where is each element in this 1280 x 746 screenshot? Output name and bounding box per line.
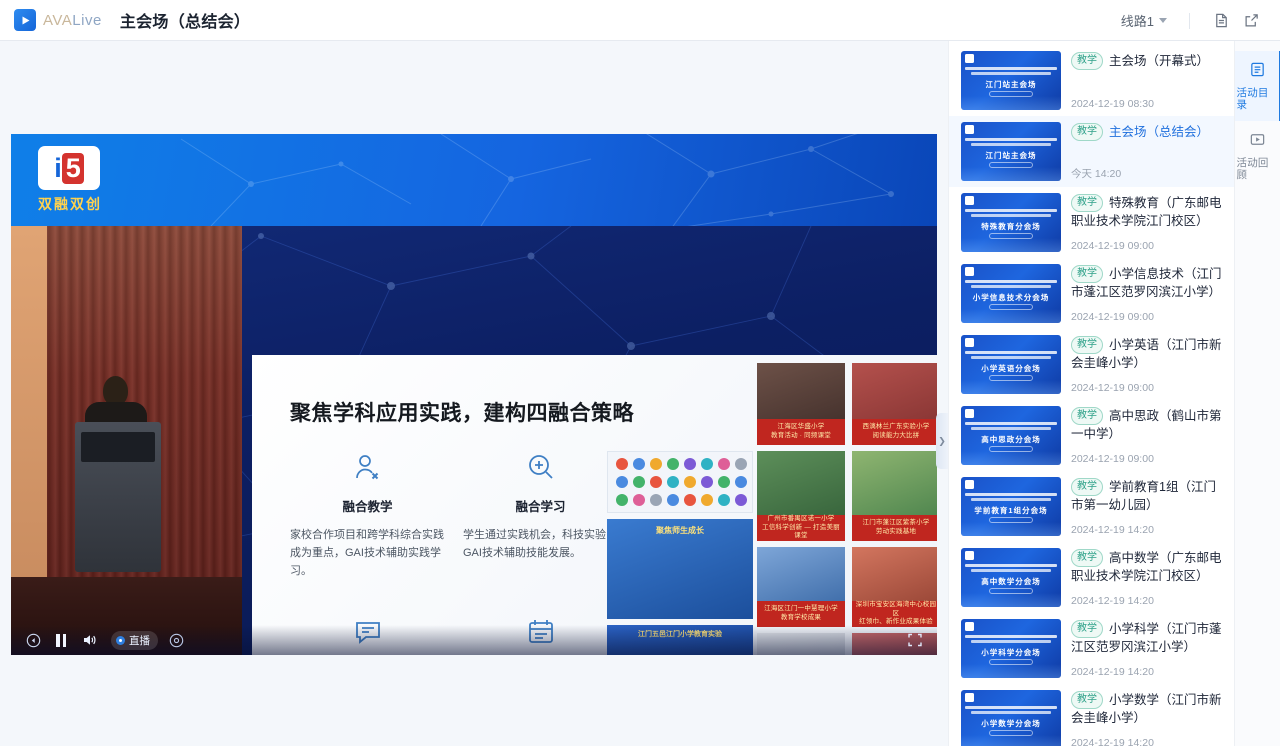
activity-list-item[interactable]: 江门站主会场教学主会场（总结会）今天 14:20: [949, 116, 1234, 187]
activity-list-item[interactable]: 学前教育1组分会场教学学前教育1组（江门市第一幼儿园）2024-12-19 14…: [949, 471, 1234, 542]
thumbnail-line-2: [971, 427, 1051, 430]
thumbnail-line-2: [971, 72, 1051, 75]
activity-meta: 教学小学科学（江门市蓬江区范罗冈滨江小学）2024-12-19 14:20: [1071, 619, 1224, 678]
thumbnail-line-2: [971, 143, 1051, 146]
thumbnail-wave: [961, 238, 1061, 252]
activity-meta: 教学高中数学（广东邮电职业技术学院江门校区）2024-12-19 14:20: [1071, 548, 1224, 607]
thumbnail-line-2: [971, 569, 1051, 572]
activity-badge: 教学: [1071, 620, 1103, 638]
thumbnail-wave: [961, 522, 1061, 536]
thumbnail-wave: [961, 309, 1061, 323]
thumbnail-line-1: [965, 138, 1057, 141]
collage-caption-5: 江门市蓬江区紫茶小学劳动实践基地: [852, 515, 937, 541]
thumbnail-line-2: [971, 356, 1051, 359]
activity-meta-top: 教学高中数学（广东邮电职业技术学院江门校区）: [1071, 549, 1224, 585]
activity-meta-top: 教学小学数学（江门市新会圭峰小学）: [1071, 691, 1224, 727]
sidebar-collapse-handle[interactable]: ❯: [936, 413, 948, 469]
collage-photo-6-title: 聚焦师生成长: [607, 525, 753, 536]
activity-list-item[interactable]: 小学数学分会场教学小学数学（江门市新会圭峰小学）2024-12-19 14:20: [949, 684, 1234, 746]
activity-meta: 教学高中思政（鹤山市第一中学）2024-12-19 09:00: [1071, 406, 1224, 465]
activity-badge: 教学: [1071, 265, 1103, 283]
activity-meta: 教学学前教育1组（江门市第一幼儿园）2024-12-19 14:20: [1071, 477, 1224, 536]
podium: [75, 422, 161, 572]
document-icon[interactable]: [1206, 6, 1236, 36]
activity-meta-top: 教学学前教育1组（江门市第一幼儿园）: [1071, 478, 1224, 514]
activity-time: 2024-12-19 14:20: [1071, 737, 1224, 746]
activity-list-item[interactable]: 高中思政分会场教学高中思政（鹤山市第一中学）2024-12-19 09:00: [949, 400, 1234, 471]
thumbnail-line-2: [971, 711, 1051, 714]
thumbnail-title: 小学信息技术分会场: [961, 292, 1061, 303]
activity-meta-top: 教学高中思政（鹤山市第一中学）: [1071, 407, 1224, 443]
thumbnail-logo-icon: [965, 693, 974, 702]
thumbnail-wave: [961, 380, 1061, 394]
activity-list-item[interactable]: 小学信息技术分会场教学小学信息技术（江门市蓬江区范罗冈滨江小学）2024-12-…: [949, 258, 1234, 329]
thumbnail-line-2: [971, 640, 1051, 643]
collage-caption-7: 江海区江门一中慧理小学教育学校成果: [757, 601, 845, 627]
activity-thumbnail: 高中思政分会场: [961, 406, 1061, 465]
activity-list-item[interactable]: 小学科学分会场教学小学科学（江门市蓬江区范罗冈滨江小学）2024-12-19 1…: [949, 613, 1234, 684]
activity-thumbnail: 小学英语分会场: [961, 335, 1061, 394]
thumbnail-wave: [961, 167, 1061, 181]
activity-time: 2024-12-19 09:00: [1071, 382, 1224, 394]
activity-badge: 教学: [1071, 407, 1103, 425]
thumbnail-logo-icon: [965, 480, 974, 489]
collage-photo-2: 西漓林兰广东实验小学阅读能力大比拼: [852, 363, 937, 445]
chevron-down-icon: [1159, 18, 1167, 23]
player-controls: 直播: [11, 625, 937, 655]
activity-thumbnail: 江门站主会场: [961, 51, 1061, 110]
activity-thumbnail: 江门站主会场: [961, 122, 1061, 181]
thumbnail-wave: [961, 451, 1061, 465]
activity-list-item[interactable]: 特殊教育分会场教学特殊教育（广东邮电职业技术学院江门校区）2024-12-19 …: [949, 187, 1234, 258]
activity-meta: 教学小学数学（江门市新会圭峰小学）2024-12-19 14:20: [1071, 690, 1224, 746]
activity-badge: 教学: [1071, 336, 1103, 354]
slide-cell-2: 融合学习 学生通过实践机会，科技实验，GAI技术辅助技能发展。: [463, 451, 618, 562]
activity-thumbnail: 学前教育1组分会场: [961, 477, 1061, 536]
brand-ava-text: AVA: [43, 12, 72, 29]
stage-banner: i5 双融双创: [11, 134, 937, 226]
thumbnail-title: 小学科学分会场: [961, 647, 1061, 658]
thumbnail-wave: [961, 593, 1061, 607]
activity-badge: 教学: [1071, 194, 1103, 212]
volume-icon[interactable]: [79, 630, 99, 650]
activity-meta: 教学小学英语（江门市新会圭峰小学）2024-12-19 09:00: [1071, 335, 1224, 394]
activity-thumbnail: 特殊教育分会场: [961, 193, 1061, 252]
chevron-right-icon: ❯: [938, 436, 946, 447]
route-selector[interactable]: 线路1: [1115, 7, 1173, 34]
activity-time: 2024-12-19 14:20: [1071, 666, 1224, 678]
activity-time: 2024-12-19 09:00: [1071, 240, 1224, 252]
thumbnail-line-1: [965, 635, 1057, 638]
activity-list-item[interactable]: 小学英语分会场教学小学英语（江门市新会圭峰小学）2024-12-19 09:00: [949, 329, 1234, 400]
activity-thumbnail: 小学科学分会场: [961, 619, 1061, 678]
top-bar-actions: 线路1: [1115, 0, 1266, 41]
thumbnail-title: 江门站主会场: [961, 79, 1061, 90]
collage-photo-5: 江门市蓬江区紫茶小学劳动实践基地: [852, 451, 937, 541]
activity-time: 今天 14:20: [1071, 166, 1224, 181]
thumbnail-logo-icon: [965, 338, 974, 347]
thumbnail-line-1: [965, 706, 1057, 709]
route-label: 线路1: [1121, 11, 1154, 30]
activity-badge: 教学: [1071, 549, 1103, 567]
activity-badge: 教学: [1071, 691, 1103, 709]
external-link-icon[interactable]: [1236, 6, 1266, 36]
thumbnail-logo-icon: [965, 551, 974, 560]
slide-cell-1-heading: 融合教学: [290, 496, 445, 515]
thumbnail-title: 学前教育1组分会场: [961, 505, 1061, 516]
slide-cell-2-heading: 融合学习: [463, 496, 618, 515]
list-document-icon: [1249, 61, 1266, 83]
activity-list[interactable]: 江门站主会场教学主会场（开幕式）2024-12-19 08:30江门站主会场教学…: [948, 41, 1234, 746]
slide-cell-1: 融合教学 家校合作项目和跨学科综合实践成为重点，GAI技术辅助实践学习。: [290, 451, 445, 580]
video-player[interactable]: i5 双融双创: [11, 134, 937, 655]
activity-meta-top: 教学小学科学（江门市蓬江区范罗冈滨江小学）: [1071, 620, 1224, 656]
activity-meta: 教学特殊教育（广东邮电职业技术学院江门校区）2024-12-19 09:00: [1071, 193, 1224, 252]
activity-meta-top: 教学小学英语（江门市新会圭峰小学）: [1071, 336, 1224, 372]
thumbnail-title: 高中数学分会场: [961, 576, 1061, 587]
settings-icon[interactable]: [166, 630, 186, 650]
collage-caption-1: 江海区华盛小学教育活动 · 同频课堂: [757, 419, 845, 445]
ava-play-icon: [14, 9, 36, 31]
thumbnail-line-1: [965, 209, 1057, 212]
tab-activity-review[interactable]: 活动回顾: [1235, 121, 1280, 191]
collage-caption-4: 广州市番禺区诺一小学工信科学创新 — 打造美丽课堂: [757, 515, 845, 541]
thumbnail-title: 小学数学分会场: [961, 718, 1061, 729]
thumbnail-title: 特殊教育分会场: [961, 221, 1061, 232]
i5-logo-i: i: [54, 153, 62, 184]
activity-time: 2024-12-19 14:20: [1071, 595, 1224, 607]
thumbnail-logo-icon: [965, 409, 974, 418]
collage-photo-8: 深圳市宝安区海湾中心校园区红领巾、新作业成果体验: [852, 547, 937, 627]
activity-meta: 教学小学信息技术（江门市蓬江区范罗冈滨江小学）2024-12-19 09:00: [1071, 264, 1224, 323]
activity-time: 2024-12-19 09:00: [1071, 453, 1224, 465]
activity-badge: 教学: [1071, 52, 1103, 70]
activity-meta-top: 教学小学信息技术（江门市蓬江区范罗冈滨江小学）: [1071, 265, 1224, 301]
thumbnail-line-1: [965, 351, 1057, 354]
thumbnail-logo-icon: [965, 54, 974, 63]
activity-time: 2024-12-19 14:20: [1071, 524, 1224, 536]
live-label: 直播: [129, 633, 150, 648]
activity-list-item[interactable]: 高中数学分会场教学高中数学（广东邮电职业技术学院江门校区）2024-12-19 …: [949, 542, 1234, 613]
activity-meta: 教学主会场（开幕式）2024-12-19 08:30: [1071, 51, 1224, 110]
slide-photo-collage: 江海区华盛小学教育活动 · 同频课堂 西漓林兰广东实验小学阅读能力大比拼: [607, 355, 937, 655]
collage-photo-3: [607, 451, 753, 513]
live-dot-icon: [116, 636, 125, 645]
tab-activity-catalog-label: 活动目录: [1237, 88, 1279, 111]
slide-title: 聚焦学科应用实践，建构四融合策略: [290, 397, 634, 427]
play-box-icon: [1249, 131, 1266, 153]
top-bar: AVALive 主会场（总结会） 线路1: [0, 0, 1280, 41]
activity-meta-top: 教学主会场（总结会）: [1071, 123, 1224, 141]
thumbnail-line-1: [965, 280, 1057, 283]
collage-photo-4: 广州市番禺区诺一小学工信科学创新 — 打造美丽课堂: [757, 451, 845, 541]
thumbnail-logo-icon: [965, 196, 974, 205]
right-panel: 江门站主会场教学主会场（开幕式）2024-12-19 08:30江门站主会场教学…: [948, 41, 1280, 746]
toolbar-divider: [1189, 13, 1190, 29]
activity-time: 2024-12-19 09:00: [1071, 311, 1224, 323]
slide-cell-1-body: 家校合作项目和跨学科综合实践成为重点，GAI技术辅助实践学习。: [290, 526, 445, 580]
activity-badge: 教学: [1071, 478, 1103, 496]
thumbnail-line-2: [971, 214, 1051, 217]
fullscreen-icon[interactable]: [905, 630, 925, 650]
collage-photo-1: 江海区华盛小学教育活动 · 同频课堂: [757, 363, 845, 445]
thumbnail-logo-icon: [965, 267, 974, 276]
zoom-in-icon: [463, 451, 618, 490]
thumbnail-title: 高中思政分会场: [961, 434, 1061, 445]
thumbnail-line-1: [965, 67, 1057, 70]
tab-activity-catalog[interactable]: 活动目录: [1235, 51, 1280, 121]
thumbnail-line-1: [965, 422, 1057, 425]
i5-logo: i5: [38, 146, 100, 190]
page-title: 主会场（总结会）: [120, 8, 250, 32]
collage-caption-8: 深圳市宝安区海湾中心校园区红领巾、新作业成果体验: [852, 601, 937, 627]
brand-logo[interactable]: AVALive: [14, 9, 102, 31]
activity-list-item[interactable]: 江门站主会场教学主会场（开幕式）2024-12-19 08:30: [949, 45, 1234, 116]
activity-time: 2024-12-19 08:30: [1071, 98, 1224, 110]
presentation-slide: 聚焦学科应用实践，建构四融合策略 融合: [252, 355, 937, 655]
collage-photo-6: 聚焦师生成长: [607, 519, 753, 619]
activity-badge: 教学: [1071, 123, 1103, 141]
activity-meta-top: 教学特殊教育（广东邮电职业技术学院江门校区）: [1071, 194, 1224, 230]
pause-icon[interactable]: [51, 630, 71, 650]
activity-thumbnail: 小学信息技术分会场: [961, 264, 1061, 323]
pause-bars: [56, 634, 66, 647]
thumbnail-wave: [961, 735, 1061, 746]
thumbnail-line-1: [965, 493, 1057, 496]
collage-photo-7: 江海区江门一中慧理小学教育学校成果: [757, 547, 845, 627]
thumbnail-wave: [961, 664, 1061, 678]
activity-title: 主会场（总结会）: [1109, 125, 1209, 139]
rewind-icon[interactable]: [23, 630, 43, 650]
i5-logo-subtitle: 双融双创: [38, 194, 102, 214]
collage-caption-2: 西漓林兰广东实验小学阅读能力大比拼: [852, 419, 937, 445]
player-column: i5 双融双创: [0, 41, 948, 746]
slide-cell-2-body: 学生通过实践机会，科技实验，GAI技术辅助技能发展。: [463, 526, 618, 562]
activity-title: 主会场（开幕式）: [1109, 54, 1209, 68]
thumbnail-wave: [961, 96, 1061, 110]
thumbnail-line-1: [965, 564, 1057, 567]
thumbnail-logo-icon: [965, 125, 974, 134]
i5-logo-5: 5: [62, 153, 84, 184]
live-badge[interactable]: 直播: [111, 631, 158, 650]
thumbnail-line-2: [971, 498, 1051, 501]
tab-activity-review-label: 活动回顾: [1237, 158, 1279, 181]
user-teach-icon: [290, 451, 445, 490]
thumbnail-logo-icon: [965, 622, 974, 631]
thumbnail-title: 小学英语分会场: [961, 363, 1061, 374]
activity-thumbnail: 小学数学分会场: [961, 690, 1061, 746]
panel-tabstrip: 活动目录 活动回顾: [1234, 41, 1280, 746]
activity-meta-top: 教学主会场（开幕式）: [1071, 52, 1224, 70]
activity-thumbnail: 高中数学分会场: [961, 548, 1061, 607]
activity-meta: 教学主会场（总结会）今天 14:20: [1071, 122, 1224, 181]
thumbnail-title: 江门站主会场: [961, 150, 1061, 161]
brand-live-text: Live: [72, 12, 102, 29]
brand-wordmark: AVALive: [43, 12, 102, 29]
main-layout: i5 双融双创: [0, 41, 1280, 746]
thumbnail-line-2: [971, 285, 1051, 288]
activity-list-inner: 江门站主会场教学主会场（开幕式）2024-12-19 08:30江门站主会场教学…: [949, 41, 1234, 746]
speaker-camera-feed: [11, 226, 242, 655]
